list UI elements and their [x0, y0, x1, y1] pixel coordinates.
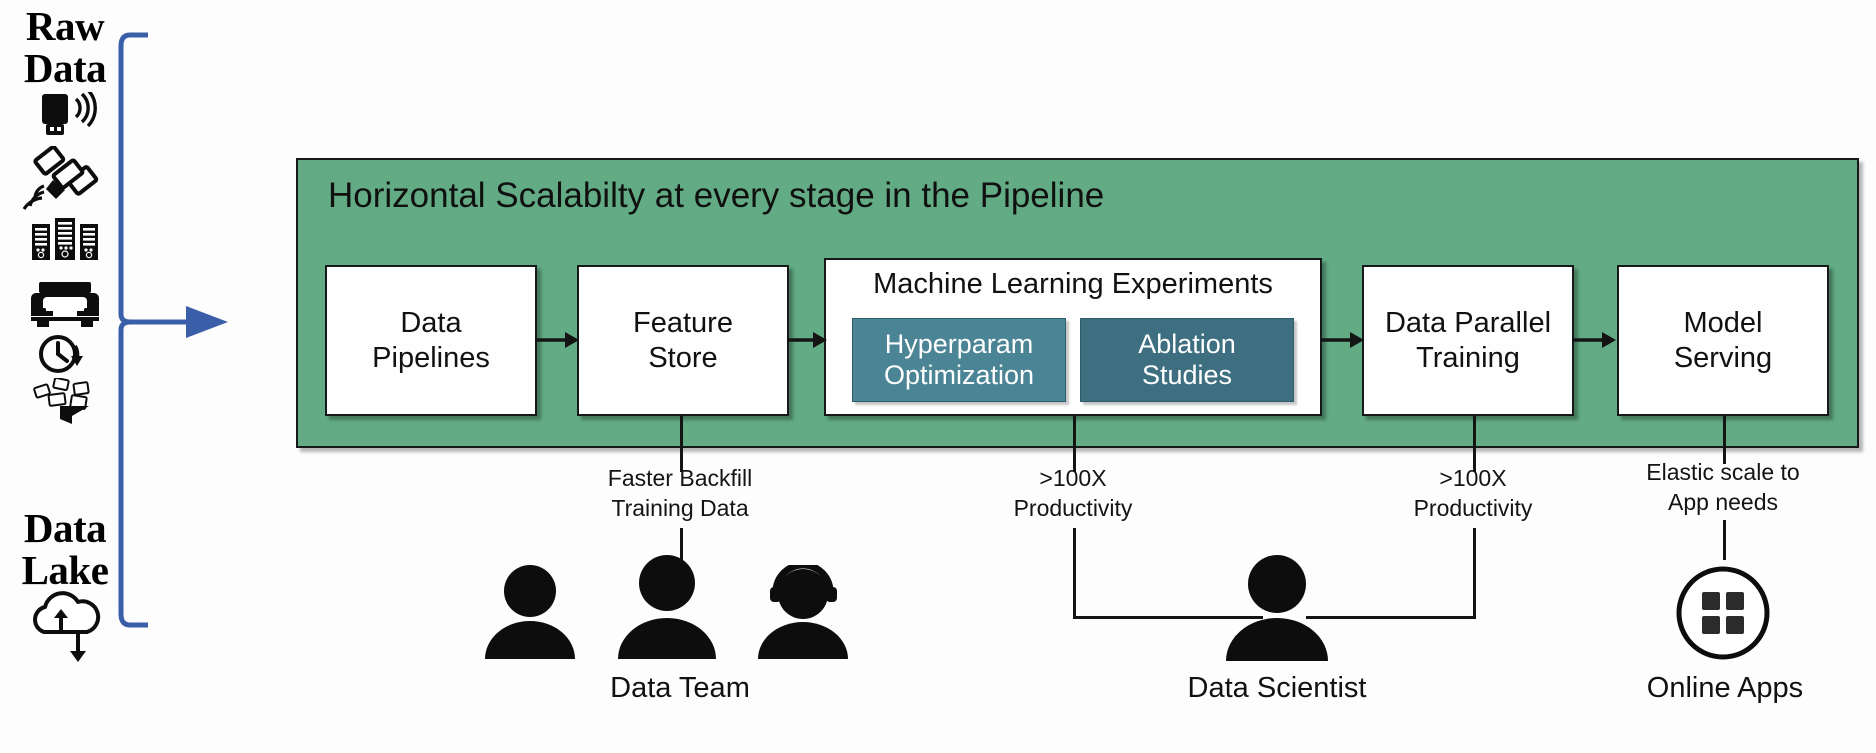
- stage-model-serving[interactable]: Model Serving: [1617, 265, 1829, 416]
- servers-icon: [0, 218, 130, 269]
- iot-sensor-icon: [0, 92, 130, 145]
- arrow-pipelines-to-store: [535, 328, 581, 357]
- stage-feature-store[interactable]: Feature Store: [577, 265, 789, 416]
- sub-box-ablation-studies[interactable]: Ablation Studies: [1080, 318, 1294, 402]
- satellite-icon: [0, 146, 130, 215]
- leader-productivity-training-bottom: [1473, 528, 1476, 618]
- person-icon-data-scientist: [1222, 553, 1332, 666]
- stage-model-serving-label: Model Serving: [1674, 306, 1772, 374]
- stage-data-pipelines[interactable]: Data Pipelines: [325, 265, 537, 416]
- leader-productivity-ml-bottom: [1073, 528, 1076, 618]
- funnel-documents-icon: [0, 378, 130, 429]
- persona-label-online-apps: Online Apps: [1560, 672, 1876, 705]
- arrow-training-to-serving: [1572, 328, 1618, 357]
- arrow-ml-to-training: [1320, 328, 1366, 357]
- ml-experiments-title: Machine Learning Experiments: [826, 268, 1320, 301]
- stage-data-pipelines-label: Data Pipelines: [372, 306, 490, 374]
- stage-feature-store-label: Feature Store: [633, 306, 733, 374]
- raw-data-heading: Raw Data: [0, 6, 130, 90]
- app-grid-icon: [1672, 562, 1774, 669]
- person-icon-left: [480, 563, 580, 664]
- clock-history-icon: [0, 332, 130, 381]
- sub-box-hyperparam-optimization[interactable]: Hyperparam Optimization: [852, 318, 1066, 402]
- annotation-elastic-scale: Elastic scale to App needs: [1608, 458, 1838, 518]
- person-with-headset-icon: [752, 565, 854, 664]
- annotation-productivity-ml: >100X Productivity: [963, 464, 1183, 524]
- annotation-productivity-training: >100X Productivity: [1363, 464, 1583, 524]
- cloud-sync-icon: [0, 588, 130, 669]
- raw-data-column: Raw Data: [0, 0, 130, 753]
- stage-data-parallel-training-label: Data Parallel Training: [1385, 306, 1551, 374]
- leader-elastic-scale-top: [1723, 416, 1726, 464]
- truck-icon: [0, 280, 130, 333]
- sub-box-ablation-studies-label: Ablation Studies: [1138, 329, 1236, 392]
- persona-label-data-team: Data Team: [500, 672, 860, 705]
- diagram-canvas: Raw Data: [0, 0, 1876, 753]
- sub-box-hyperparam-optimization-label: Hyperparam Optimization: [884, 329, 1034, 392]
- leader-elastic-scale-bottom: [1723, 520, 1726, 560]
- person-icon-center: [614, 553, 720, 664]
- persona-label-data-scientist: Data Scientist: [1097, 672, 1457, 705]
- annotation-faster-backfill: Faster Backfill Training Data: [560, 464, 800, 524]
- arrow-store-to-ml: [787, 328, 829, 357]
- raw-data-bracket: [118, 30, 238, 630]
- stage-data-parallel-training[interactable]: Data Parallel Training: [1362, 265, 1574, 416]
- data-lake-heading: Data Lake: [0, 508, 130, 592]
- pipeline-title: Horizontal Scalabilty at every stage in …: [328, 176, 1104, 216]
- stage-ml-experiments[interactable]: Machine Learning Experiments Hyperparam …: [824, 258, 1322, 416]
